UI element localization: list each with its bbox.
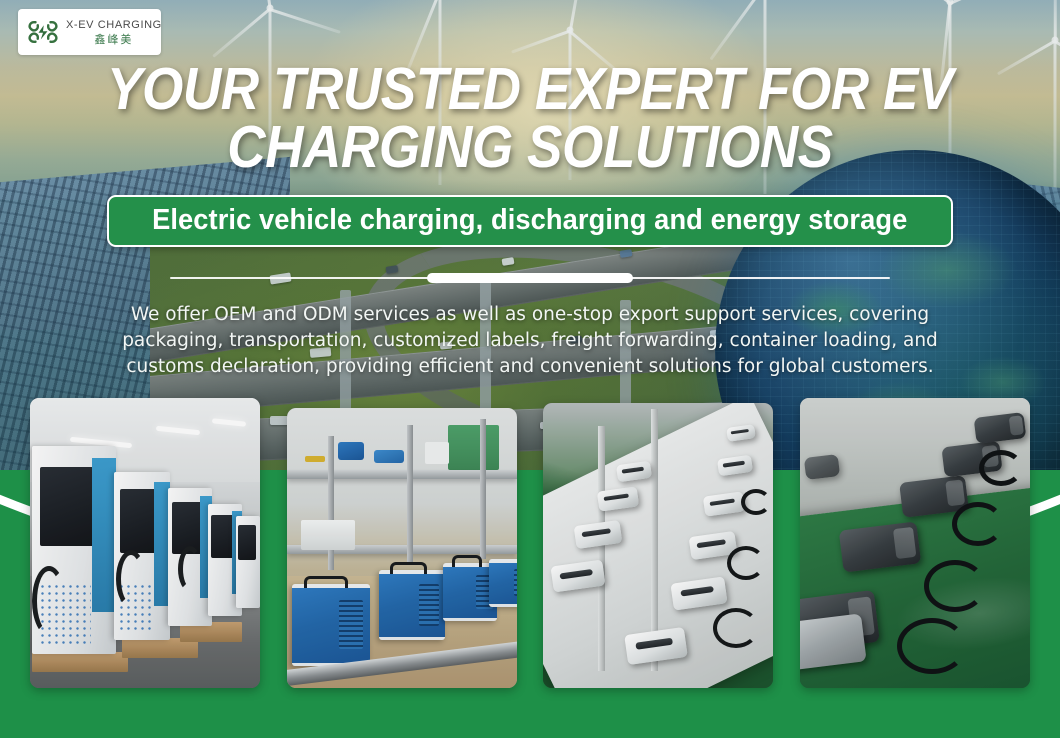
promotional-banner: X-EV CHARGING 鑫峰美 YOUR TRUSTED EXPERT FO… bbox=[0, 0, 1060, 738]
intro-paragraph: We offer OEM and ODM services as well as… bbox=[100, 302, 960, 381]
photo-surface bbox=[543, 403, 773, 688]
photo-surface bbox=[800, 398, 1030, 688]
ornament-divider bbox=[170, 271, 890, 285]
hero-content: YOUR TRUSTED EXPERT FOR EV CHARGING SOLU… bbox=[0, 0, 1060, 420]
page-title: YOUR TRUSTED EXPERT FOR EV CHARGING SOLU… bbox=[53, 60, 1007, 177]
photo-surface bbox=[287, 408, 517, 688]
gallery-image-dark-charger-units-with-cables[interactable] bbox=[800, 398, 1030, 688]
tagline-banner: Electric vehicle charging, discharging a… bbox=[107, 195, 953, 247]
tagline-text: Electric vehicle charging, discharging a… bbox=[152, 204, 907, 237]
brand-name-en: X-EV CHARGING bbox=[66, 20, 162, 31]
product-photo-gallery bbox=[0, 398, 1060, 698]
divider-pill bbox=[427, 273, 633, 283]
gallery-image-dc-fast-charger-cabinets-warehouse[interactable] bbox=[30, 398, 260, 688]
gallery-image-white-charger-assembly-line[interactable] bbox=[543, 403, 773, 688]
gallery-image-blue-portable-charger-units-workbench[interactable] bbox=[287, 408, 517, 688]
brand-logo[interactable]: X-EV CHARGING 鑫峰美 bbox=[18, 9, 161, 55]
ev-plug-leaf-logo-icon bbox=[25, 15, 61, 49]
photo-surface bbox=[30, 398, 260, 688]
brand-name-cn: 鑫峰美 bbox=[66, 34, 162, 45]
